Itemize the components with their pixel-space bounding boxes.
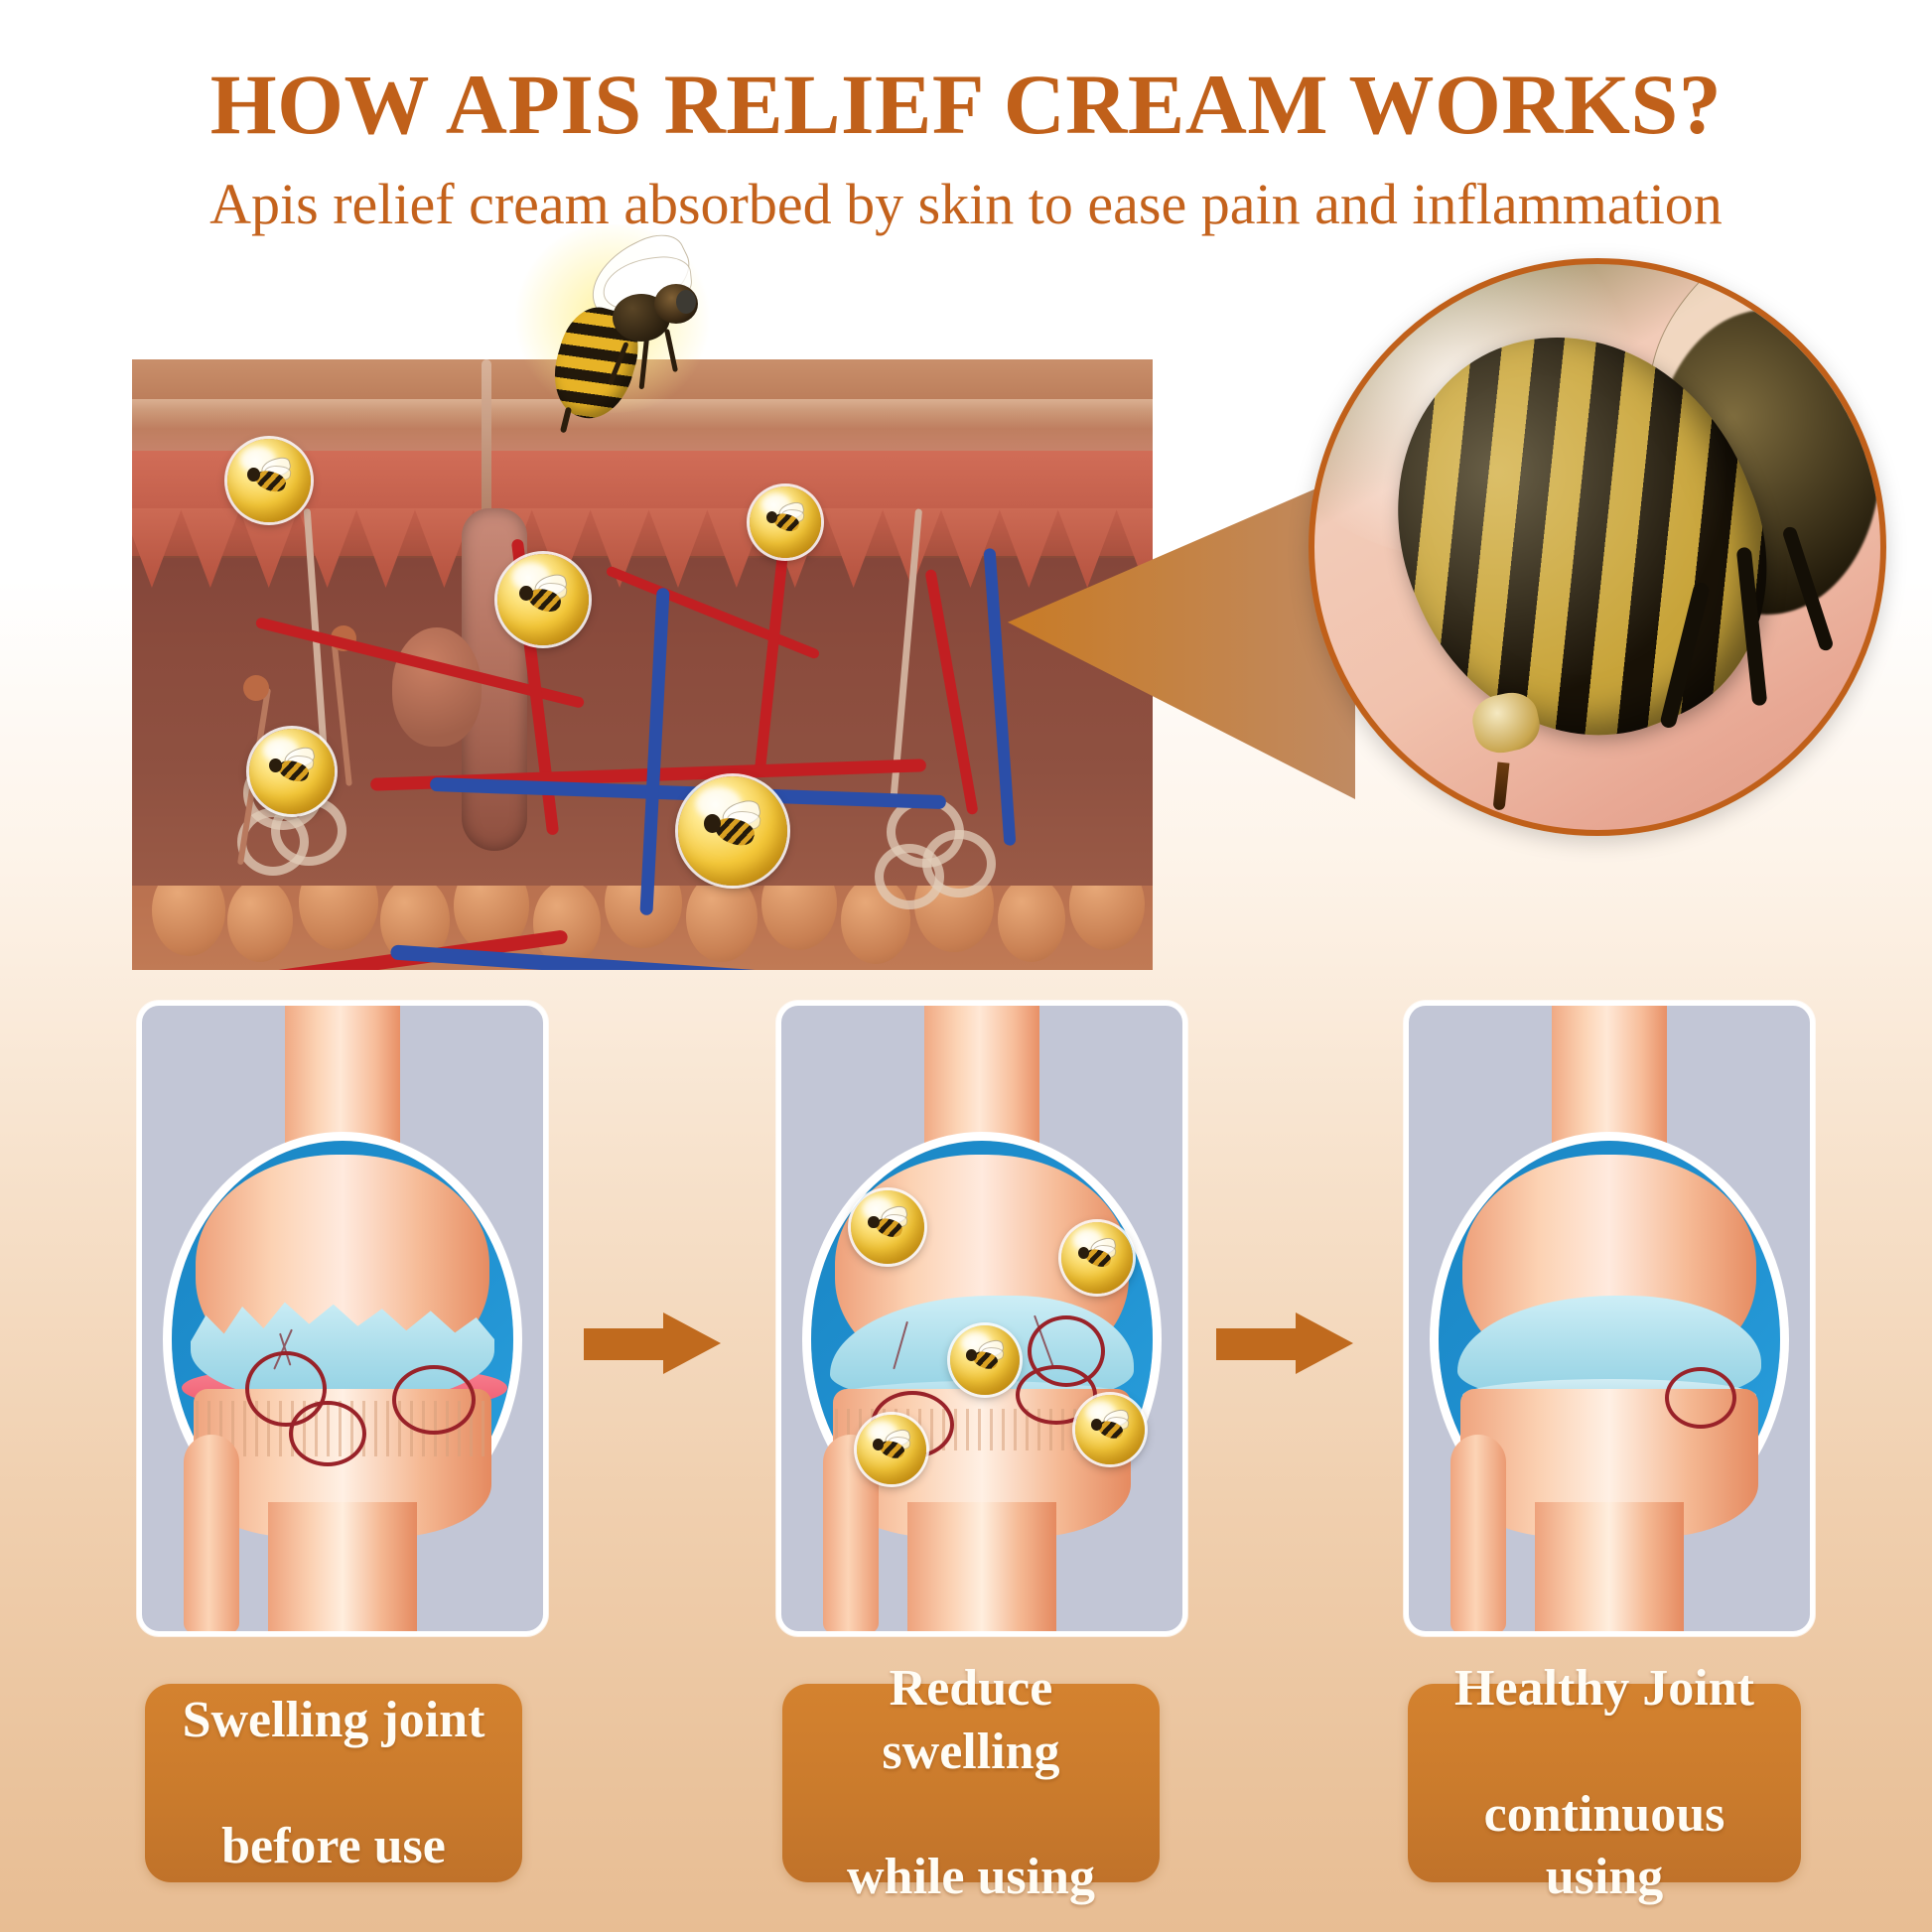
bee-venom-bubble xyxy=(249,729,335,814)
tibia-shaft xyxy=(1535,1502,1684,1636)
bee-venom-bubble xyxy=(227,439,311,522)
top-illustration-row xyxy=(0,298,1932,993)
treatment-stages-row: Swelling joint before use xyxy=(0,993,1932,1932)
bee-icon xyxy=(240,452,299,510)
caption-line-1: Swelling joint xyxy=(169,1689,499,1751)
fibula xyxy=(184,1435,239,1633)
progression-arrow-icon xyxy=(584,1312,723,1374)
bee-icon xyxy=(760,497,810,547)
fat-cell xyxy=(686,873,758,962)
bee-venom-bubble xyxy=(1075,1395,1145,1464)
venom-droplet xyxy=(1493,761,1510,810)
bee-venom-bubble xyxy=(750,486,821,558)
page-subtitle: Apis relief cream absorbed by skin to ea… xyxy=(0,149,1932,236)
bee-icon xyxy=(695,793,771,870)
stage-2-caption: Reduce swelling while using xyxy=(782,1684,1160,1882)
joint-illustration-healthy xyxy=(1404,1001,1815,1636)
bee-icon xyxy=(1086,1406,1135,1454)
tibia-shaft xyxy=(268,1502,417,1636)
flying-honeybee-icon xyxy=(529,250,698,419)
joint-illustration-swelling xyxy=(137,1001,548,1636)
page-header: HOW APIS RELIEF CREAM WORKS? Apis relief… xyxy=(0,0,1932,236)
stage-3: Healthy Joint continuous using xyxy=(1404,1001,1805,1636)
magnified-bee-sting-photo xyxy=(1309,258,1886,836)
tibia-shaft xyxy=(907,1502,1056,1636)
stage-3-caption: Healthy Joint continuous using xyxy=(1408,1684,1801,1882)
stage-1: Swelling joint before use xyxy=(137,1001,538,1636)
page-title: HOW APIS RELIEF CREAM WORKS? xyxy=(0,0,1932,149)
problem-marker xyxy=(289,1401,366,1466)
joint-illustration-healing xyxy=(776,1001,1187,1636)
caption-line-1: Reduce swelling xyxy=(796,1657,1146,1783)
bee-venom-bubble xyxy=(857,1415,926,1484)
bee-venom-bubble xyxy=(678,776,787,886)
bee-eye xyxy=(676,290,696,314)
sweat-gland xyxy=(875,844,944,909)
fibula xyxy=(1450,1435,1506,1633)
bee-icon xyxy=(1072,1233,1122,1283)
bee-venom-bubble xyxy=(950,1325,1020,1395)
progression-arrow-icon xyxy=(1216,1312,1355,1374)
fat-cell xyxy=(227,879,293,962)
bee-icon xyxy=(862,1201,913,1253)
fat-cell xyxy=(998,877,1065,962)
problem-marker xyxy=(1665,1367,1736,1429)
bee-venom-bubble xyxy=(851,1190,924,1264)
caption-line-2: before use xyxy=(169,1815,499,1877)
stage-1-caption: Swelling joint before use xyxy=(145,1684,522,1882)
nerve-ending xyxy=(243,675,269,701)
fat-cell xyxy=(533,881,601,966)
bee-icon xyxy=(262,742,322,801)
stage-2: Reduce swelling while using xyxy=(776,1001,1177,1636)
bee-venom-bubble xyxy=(497,554,589,645)
dermal-papillae xyxy=(132,508,1153,588)
skin-cross-section-diagram xyxy=(132,359,1153,970)
problem-marker xyxy=(392,1365,476,1435)
caption-line-2: continuous using xyxy=(1422,1783,1787,1909)
bee-icon xyxy=(511,568,575,631)
caption-line-2: while using xyxy=(796,1846,1146,1908)
caption-line-1: Healthy Joint xyxy=(1422,1657,1787,1720)
bee-venom-bubble xyxy=(1061,1222,1133,1294)
bee-icon xyxy=(961,1336,1010,1385)
bee-icon xyxy=(868,1426,916,1474)
sebaceous-gland xyxy=(392,627,482,747)
